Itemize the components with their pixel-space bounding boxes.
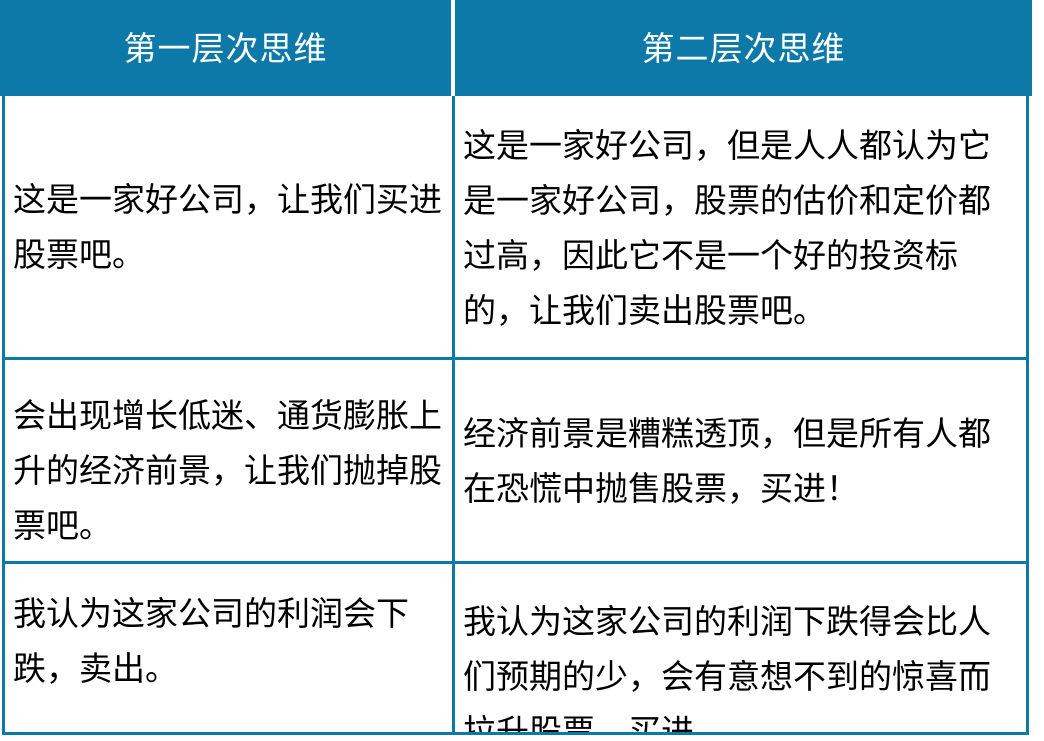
column-header-label-second-level: 第二层次思维 <box>642 32 846 65</box>
column-header-label-first-level: 第一层次思维 <box>124 32 328 65</box>
table-cell-second-level: 经济前景是糟糕透顶，但是所有人都在恐慌中抛售股票，买进！ <box>455 360 1026 561</box>
table-row: 这是一家好公司，让我们买进股票吧。 这是一家好公司，但是人人都认为它是一家好公司… <box>5 96 1026 357</box>
cell-text-second-level: 经济前景是糟糕透顶，但是所有人都在恐慌中抛售股票，买进！ <box>463 406 1018 516</box>
table-header-cell-first-level: 第一层次思维 <box>0 0 451 96</box>
table-cell-first-level: 会出现增长低迷、通货膨胀上升的经济前景，让我们抛掉股票吧。 <box>5 360 455 561</box>
table-cell-second-level: 这是一家好公司，但是人人都认为它是一家好公司，股票的估价和定价都过高，因此它不是… <box>455 96 1026 357</box>
cell-text-second-level: 我认为这家公司的利润下跌得会比人们预期的少，会有意想不到的惊喜而拉升股票，买进。 <box>463 594 1018 732</box>
table-cell-first-level: 这是一家好公司，让我们买进股票吧。 <box>5 96 455 357</box>
table-row: 会出现增长低迷、通货膨胀上升的经济前景，让我们抛掉股票吧。 经济前景是糟糕透顶，… <box>5 357 1026 561</box>
table-row: 我认为这家公司的利润会下跌，卖出。 我认为这家公司的利润下跌得会比人们预期的少，… <box>5 561 1026 732</box>
table-header-row: 第一层次思维 第二层次思维 <box>0 0 1032 96</box>
cell-text-second-level: 这是一家好公司，但是人人都认为它是一家好公司，股票的估价和定价都过高，因此它不是… <box>463 118 1018 338</box>
table-body: 这是一家好公司，让我们买进股票吧。 这是一家好公司，但是人人都认为它是一家好公司… <box>2 96 1029 735</box>
comparison-table: 第一层次思维 第二层次思维 这是一家好公司，让我们买进股票吧。 这是一家好公司，… <box>0 0 1044 741</box>
table-cell-second-level: 我认为这家公司的利润下跌得会比人们预期的少，会有意想不到的惊喜而拉升股票，买进。 <box>455 564 1026 732</box>
cell-text-first-level: 我认为这家公司的利润会下跌，卖出。 <box>13 586 444 696</box>
cell-text-first-level: 会出现增长低迷、通货膨胀上升的经济前景，让我们抛掉股票吧。 <box>13 388 444 553</box>
cell-text-first-level: 这是一家好公司，让我们买进股票吧。 <box>13 172 444 282</box>
table-header-cell-second-level: 第二层次思维 <box>455 0 1032 96</box>
table-cell-first-level: 我认为这家公司的利润会下跌，卖出。 <box>5 564 455 732</box>
